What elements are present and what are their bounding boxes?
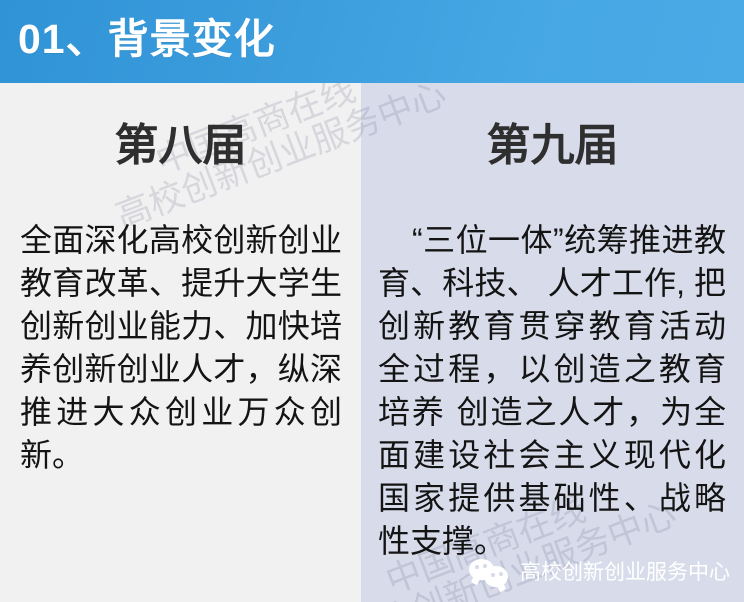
wechat-credit-label: 高校创新创业服务中心 xyxy=(520,560,730,586)
panel-left-heading: 第八届 xyxy=(0,119,361,173)
wechat-credit: 高校创新创业服务中心 xyxy=(469,558,730,588)
panel-eighth-edition: 第八届 全面深化高校创新创业教育改革、提升大学生创新创业能力、加快培养创新创业人… xyxy=(0,83,361,602)
panel-ninth-edition: 第九届 “三位一体”统筹推进教育、科技、 人才工作, 把创新教育贯穿教育活动全过… xyxy=(361,83,744,602)
panel-left-body-text: 全面深化高校创新创业教育改革、提升大学生创新创业能力、加快培养创新创业人才，纵深… xyxy=(20,219,342,477)
slide-header-bar: 01、背景变化 xyxy=(0,0,744,83)
page-title: 01、背景变化 xyxy=(18,8,276,70)
comparison-columns: 第八届 全面深化高校创新创业教育改革、提升大学生创新创业能力、加快培养创新创业人… xyxy=(0,83,744,602)
panel-right-body-text: “三位一体”统筹推进教育、科技、 人才工作, 把创新教育贯穿教育活动全过程，以创… xyxy=(378,219,726,563)
wechat-icon xyxy=(469,558,511,588)
panel-right-heading: 第九届 xyxy=(361,119,744,173)
slide-canvas: 01、背景变化 中国高商在线 高校创新创业服务中心 中国高商在线 高校创新创业服… xyxy=(0,0,744,602)
